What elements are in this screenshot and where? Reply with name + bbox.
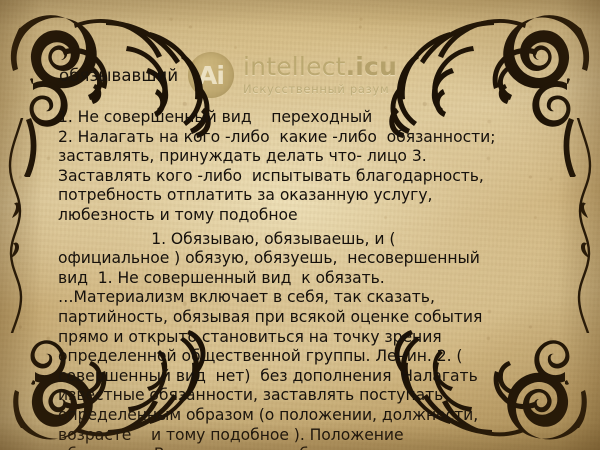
definition-line: любезность и тому подобное — [58, 206, 554, 226]
line-gap — [58, 226, 554, 230]
definition-line: партийность, обязывая при всякой оценке … — [58, 308, 554, 328]
definition-line: известные обязанности, заставлять поступ… — [58, 386, 554, 406]
corner-flourish-bottom-left-icon — [2, 320, 252, 450]
edge-rule-right-icon — [570, 118, 600, 333]
definition-line: официальное ) обязую, обязуешь, несоверш… — [58, 249, 554, 269]
definition-line: 1. Обязываю, обязываешь, и ( — [58, 230, 554, 250]
watermark-title-light: intellect — [243, 52, 346, 81]
watermark: Ai intellect.icu Искусственный разум — [188, 52, 397, 98]
definition-body: 1. Не совершенный вид переходный2. Налаг… — [58, 108, 554, 450]
definition-line: …Материализм включает в себя, так сказат… — [58, 288, 554, 308]
definition-line: заставлять, принуждать делать что- лицо … — [58, 147, 554, 167]
definition-line: возрасте и тому подобное ). Положение — [58, 426, 554, 446]
corner-flourish-top-right-icon — [348, 2, 598, 177]
watermark-subtitle: Искусственный разум — [243, 84, 397, 96]
definition-line: совершенный вид нет) без дополнения Нала… — [58, 367, 554, 387]
definition-line: определенной общественной группы. Ленин.… — [58, 347, 554, 367]
definition-line: Заставлять кого -либо испытывать благода… — [58, 167, 554, 187]
watermark-text: intellect.icu Искусственный разум — [243, 54, 397, 96]
watermark-logo-icon: Ai — [188, 52, 234, 98]
definition-line: прямо и открыто становиться на точку зре… — [58, 328, 554, 348]
watermark-title: intellect.icu — [243, 54, 397, 79]
definition-line: определенным образом (о положении, должн… — [58, 406, 554, 426]
definition-line: вид 1. Не совершенный вид к обязать. — [58, 269, 554, 289]
edge-rule-left-icon — [0, 118, 30, 333]
corner-flourish-top-left-icon — [2, 2, 252, 177]
slide-content: обязывавший 1. Не совершенный вид перехо… — [0, 0, 600, 450]
definition-line: 1. Не совершенный вид переходный — [58, 108, 554, 128]
definition-line: 2. Налагать на кого -либо какие -либо об… — [58, 128, 554, 148]
watermark-title-bold: .icu — [346, 52, 397, 81]
page-title: обязывавший — [59, 66, 178, 85]
corner-flourish-bottom-right-icon — [348, 320, 598, 450]
definition-line: обязывает. Высокое звание обязывает. — [58, 445, 554, 450]
slide-canvas: Ai intellect.icu Искусственный разум обя… — [0, 0, 600, 450]
definition-line: потребность отплатить за оказанную услуг… — [58, 186, 554, 206]
